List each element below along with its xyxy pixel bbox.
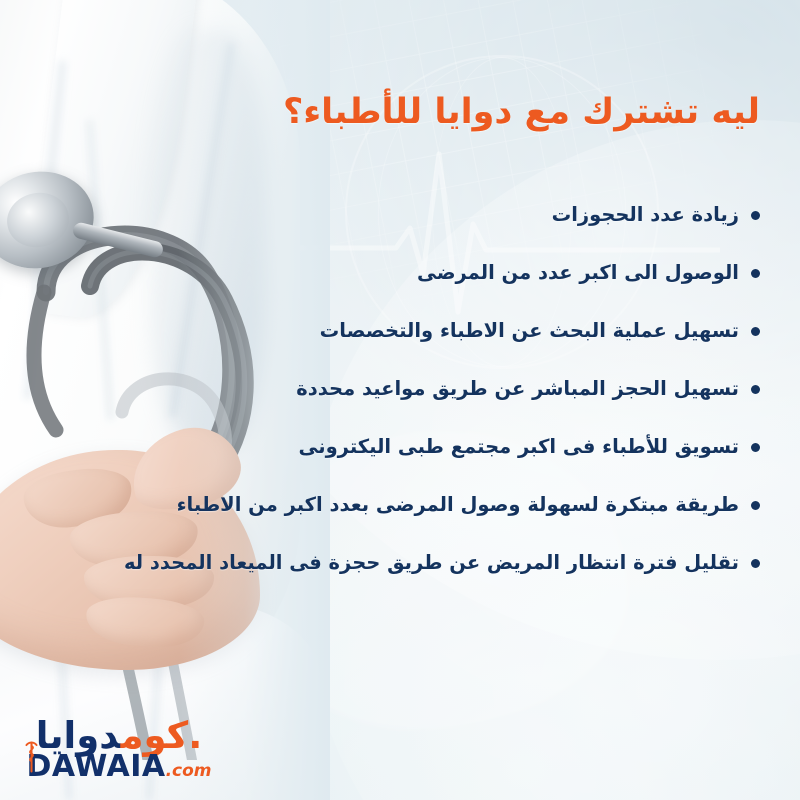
list-item: تسهيل عملية البحث عن الاطباء والتخصصات: [30, 302, 760, 360]
logo-latin-tld: .com: [166, 761, 212, 781]
list-item: زيادة عدد الحجوزات: [30, 186, 760, 244]
caduceus-icon: [23, 740, 40, 774]
bullet-dot-icon: [751, 211, 760, 220]
bullet-dot-icon: [751, 385, 760, 394]
poster-content: ليه تشترك مع دوايا للأطباء؟ زيادة عدد ال…: [0, 0, 800, 800]
list-item-label: تسويق للأطباء فى اكبر مجتمع طبى اليكترون…: [299, 435, 739, 459]
brand-logo[interactable]: .كومدوايا DAWAIA.com: [14, 717, 224, 782]
list-item-label: تسهيل الحجز المباشر عن طريق مواعيد محددة: [296, 377, 739, 401]
list-item-label: تسهيل عملية البحث عن الاطباء والتخصصات: [320, 319, 739, 343]
list-item-label: طريقة مبتكرة لسهولة وصول المرضى بعدد اكب…: [177, 493, 739, 517]
list-item: الوصول الى اكبر عدد من المرضى: [30, 244, 760, 302]
list-item-label: زيادة عدد الحجوزات: [552, 203, 739, 227]
logo-latin-wordmark: DAWAIA.com: [14, 752, 224, 782]
bullet-dot-icon: [751, 501, 760, 510]
bullet-dot-icon: [751, 443, 760, 452]
list-item: طريقة مبتكرة لسهولة وصول المرضى بعدد اكب…: [30, 476, 760, 534]
page-title: ليه تشترك مع دوايا للأطباء؟: [40, 92, 760, 133]
bullet-dot-icon: [751, 327, 760, 336]
list-item: تقليل فترة انتظار المريض عن طريق حجزة فى…: [30, 534, 760, 592]
benefits-list: زيادة عدد الحجوزات الوصول الى اكبر عدد م…: [30, 186, 760, 592]
bullet-dot-icon: [751, 559, 760, 568]
promo-poster: ليه تشترك مع دوايا للأطباء؟ زيادة عدد ال…: [0, 0, 800, 800]
bullet-dot-icon: [751, 269, 760, 278]
list-item: تسويق للأطباء فى اكبر مجتمع طبى اليكترون…: [30, 418, 760, 476]
list-item: تسهيل الحجز المباشر عن طريق مواعيد محددة: [30, 360, 760, 418]
logo-latin-name: DAWAIA: [26, 749, 165, 784]
list-item-label: تقليل فترة انتظار المريض عن طريق حجزة فى…: [124, 551, 739, 575]
list-item-label: الوصول الى اكبر عدد من المرضى: [417, 261, 739, 285]
